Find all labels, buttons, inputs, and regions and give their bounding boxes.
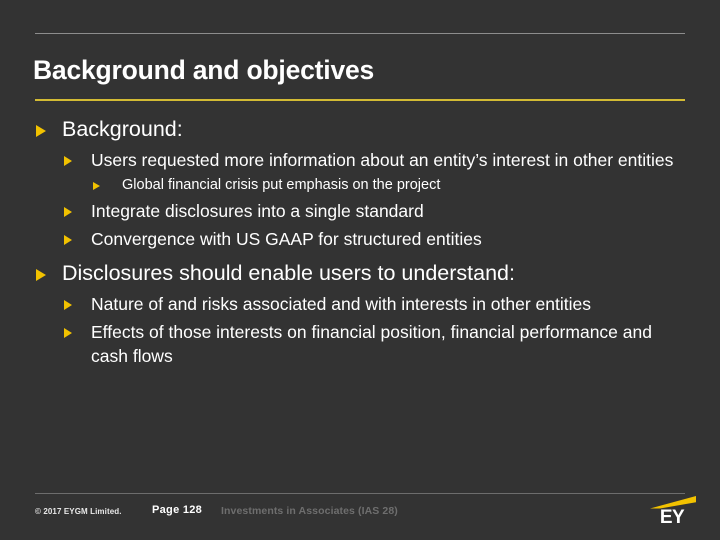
bullet-item-level2: Users requested more information about a…	[0, 149, 720, 172]
bullet-item-level1: Background:	[0, 116, 720, 144]
copyright-text: © 2017 EYGM Limited.	[35, 507, 122, 516]
triangle-bullet-icon	[93, 182, 100, 190]
title-accent-rule	[35, 99, 685, 101]
bullet-item-level2: Integrate disclosures into a single stan…	[0, 200, 720, 223]
bullet-text: Convergence with US GAAP for structured …	[91, 228, 720, 251]
triangle-bullet-icon	[64, 328, 72, 338]
ey-wordmark: EY	[646, 508, 698, 527]
bullet-text: Background:	[62, 116, 720, 144]
triangle-bullet-icon	[64, 235, 72, 245]
page-title: Background and objectives	[33, 55, 693, 85]
bullet-item-level3: Global financial crisis put emphasis on …	[0, 176, 720, 195]
triangle-bullet-icon	[36, 125, 46, 137]
bullet-item-level1: Disclosures should enable users to under…	[0, 260, 720, 288]
bullet-text: Nature of and risks associated and with …	[91, 293, 720, 316]
triangle-bullet-icon	[64, 207, 72, 217]
bullet-text: Global financial crisis put emphasis on …	[122, 176, 720, 195]
triangle-bullet-icon	[64, 156, 72, 166]
bullet-text: Disclosures should enable users to under…	[62, 260, 720, 288]
triangle-bullet-icon	[36, 269, 46, 281]
title-top-rule	[35, 33, 685, 34]
page-number: Page 128	[152, 504, 202, 516]
slide-footer: © 2017 EYGM Limited. Page 128 Investment…	[0, 504, 720, 524]
bullet-list: Background: Users requested more informa…	[0, 116, 720, 372]
deck-subject-text: Investments in Associates (IAS 28)	[221, 505, 398, 517]
bullet-text: Effects of those interests on financial …	[91, 321, 720, 368]
ey-logo: EY	[646, 496, 698, 530]
slide: Background and objectives Background: Us…	[0, 0, 720, 540]
footer-rule	[35, 493, 685, 494]
bullet-text: Integrate disclosures into a single stan…	[91, 200, 720, 223]
bullet-item-level2: Nature of and risks associated and with …	[0, 293, 720, 316]
triangle-bullet-icon	[64, 300, 72, 310]
bullet-item-level2: Convergence with US GAAP for structured …	[0, 228, 720, 251]
bullet-text: Users requested more information about a…	[91, 149, 720, 172]
bullet-item-level2: Effects of those interests on financial …	[0, 321, 720, 368]
